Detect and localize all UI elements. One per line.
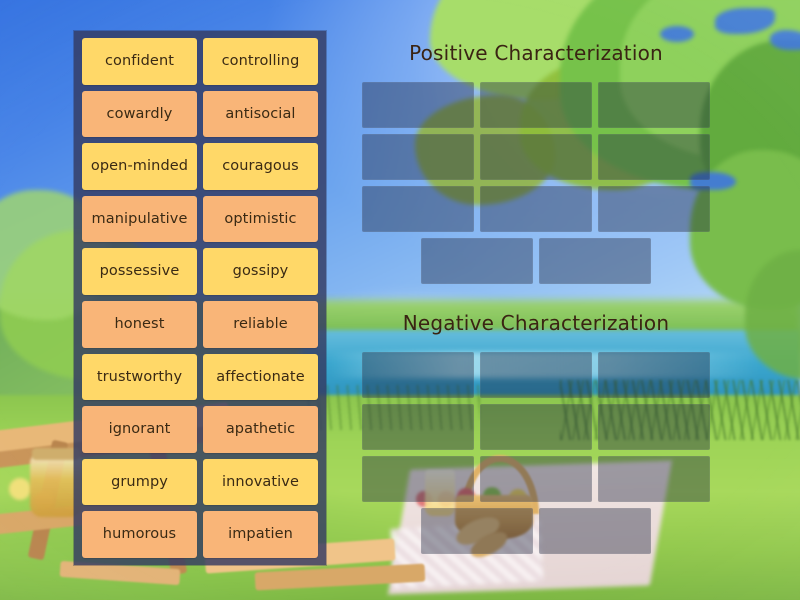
drop-slot-negative[interactable] bbox=[598, 352, 710, 398]
word-tile[interactable]: trustworthy bbox=[82, 354, 197, 401]
word-tile[interactable]: innovative bbox=[203, 459, 318, 506]
word-tile[interactable]: apathetic bbox=[203, 406, 318, 453]
drop-slot-positive[interactable] bbox=[362, 82, 474, 128]
drop-slot-negative[interactable] bbox=[421, 508, 533, 554]
negative-zone-title: Negative Characterization bbox=[346, 311, 726, 335]
drop-slot-row bbox=[362, 186, 710, 232]
word-tile[interactable]: affectionate bbox=[203, 354, 318, 401]
word-tile[interactable]: honest bbox=[82, 301, 197, 348]
drop-slot-negative[interactable] bbox=[598, 456, 710, 502]
word-tile-row: manipulativeoptimistic bbox=[82, 196, 318, 243]
drop-slot-row bbox=[362, 456, 710, 502]
word-tile[interactable]: reliable bbox=[203, 301, 318, 348]
word-tile[interactable]: humorous bbox=[82, 511, 197, 558]
jar-lid-icon bbox=[32, 448, 80, 460]
drop-slot-positive[interactable] bbox=[598, 134, 710, 180]
word-tile-row: cowardlyantisocial bbox=[82, 91, 318, 138]
word-tile[interactable]: antisocial bbox=[203, 91, 318, 138]
drop-slot-negative[interactable] bbox=[362, 352, 474, 398]
drop-slot-row bbox=[362, 352, 710, 398]
drop-slot-negative[interactable] bbox=[362, 456, 474, 502]
word-tile[interactable]: couragous bbox=[203, 143, 318, 190]
drop-slot-positive[interactable] bbox=[480, 82, 592, 128]
word-tile[interactable]: open-minded bbox=[82, 143, 197, 190]
word-tile-row: humorousimpatien bbox=[82, 511, 318, 558]
word-tile[interactable]: confident bbox=[82, 38, 197, 85]
drop-slot-positive[interactable] bbox=[362, 134, 474, 180]
positive-drop-zone bbox=[362, 82, 710, 290]
drop-slot-positive[interactable] bbox=[598, 82, 710, 128]
drop-slot-positive[interactable] bbox=[598, 186, 710, 232]
drop-slot-negative[interactable] bbox=[598, 404, 710, 450]
drop-slot-row bbox=[362, 238, 710, 284]
word-tile[interactable]: cowardly bbox=[82, 91, 197, 138]
drop-slot-positive[interactable] bbox=[480, 134, 592, 180]
drop-slot-positive[interactable] bbox=[421, 238, 533, 284]
drop-slot-negative[interactable] bbox=[362, 404, 474, 450]
word-tile-row: honestreliable bbox=[82, 301, 318, 348]
word-tile[interactable]: manipulative bbox=[82, 196, 197, 243]
activity-stage: confidentcontrollingcowardlyantisocialop… bbox=[0, 0, 800, 600]
word-tile-row: trustworthyaffectionate bbox=[82, 354, 318, 401]
word-tile[interactable]: grumpy bbox=[82, 459, 197, 506]
word-tile[interactable]: gossipy bbox=[203, 248, 318, 295]
word-tile-row: ignorantapathetic bbox=[82, 406, 318, 453]
word-tile-row: grumpyinnovative bbox=[82, 459, 318, 506]
word-tile-row: confidentcontrolling bbox=[82, 38, 318, 85]
positive-zone-title: Positive Characterization bbox=[346, 41, 726, 65]
negative-drop-zone bbox=[362, 352, 710, 560]
word-tile[interactable]: ignorant bbox=[82, 406, 197, 453]
drop-slot-row bbox=[362, 134, 710, 180]
word-tile[interactable]: impatien bbox=[203, 511, 318, 558]
word-tile[interactable]: optimistic bbox=[203, 196, 318, 243]
drop-slot-negative[interactable] bbox=[480, 404, 592, 450]
word-bank-panel: confidentcontrollingcowardlyantisocialop… bbox=[74, 31, 326, 565]
drop-slot-positive[interactable] bbox=[480, 186, 592, 232]
drop-slot-row bbox=[362, 404, 710, 450]
drop-slot-negative[interactable] bbox=[480, 352, 592, 398]
drop-slot-negative[interactable] bbox=[539, 508, 651, 554]
drop-slot-positive[interactable] bbox=[539, 238, 651, 284]
drop-slot-row bbox=[362, 508, 710, 554]
drop-slot-negative[interactable] bbox=[480, 456, 592, 502]
sky-gap bbox=[660, 26, 694, 42]
word-tile-row: possessivegossipy bbox=[82, 248, 318, 295]
word-tile[interactable]: controlling bbox=[203, 38, 318, 85]
word-tile-row: open-mindedcouragous bbox=[82, 143, 318, 190]
drop-slot-row bbox=[362, 82, 710, 128]
drop-slot-positive[interactable] bbox=[362, 186, 474, 232]
word-tile[interactable]: possessive bbox=[82, 248, 197, 295]
